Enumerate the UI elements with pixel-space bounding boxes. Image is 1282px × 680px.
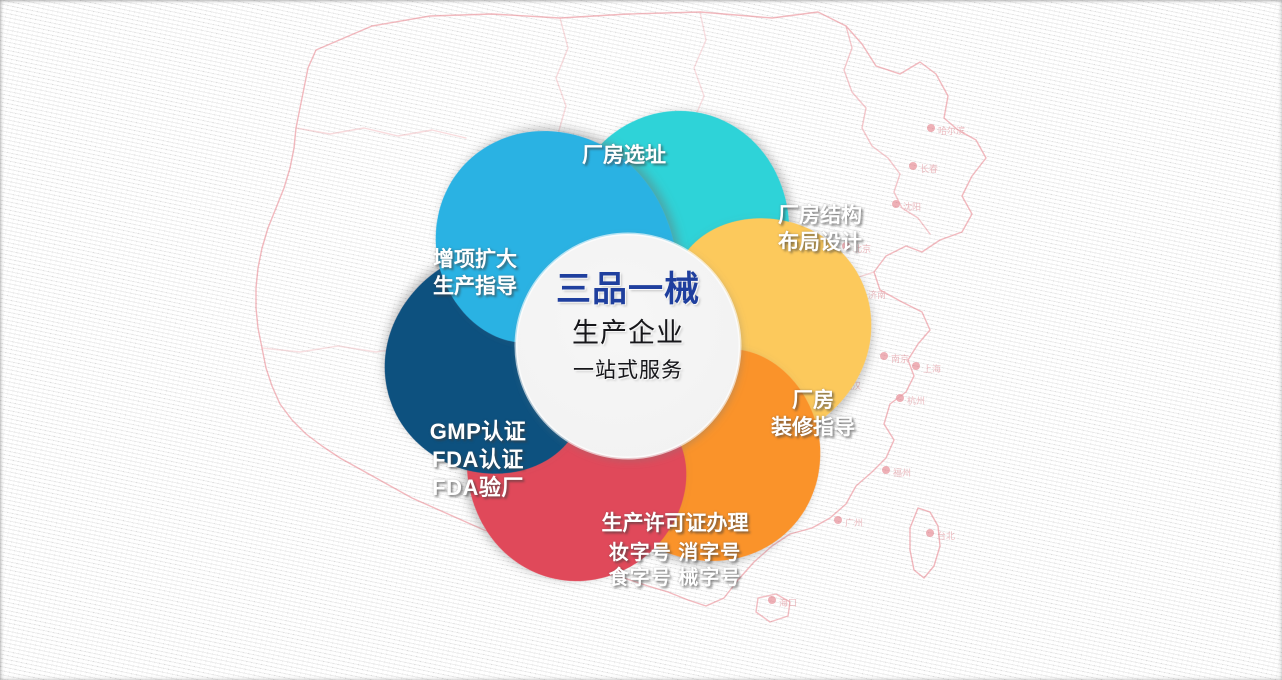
- six-petal-wheel: [0, 0, 1282, 680]
- center-disc: [516, 234, 740, 458]
- infographic-canvas: 哈尔滨长春 沈阳北京 济南郑州 南京上海 武汉杭州 福州广州 台北海口: [0, 0, 1282, 680]
